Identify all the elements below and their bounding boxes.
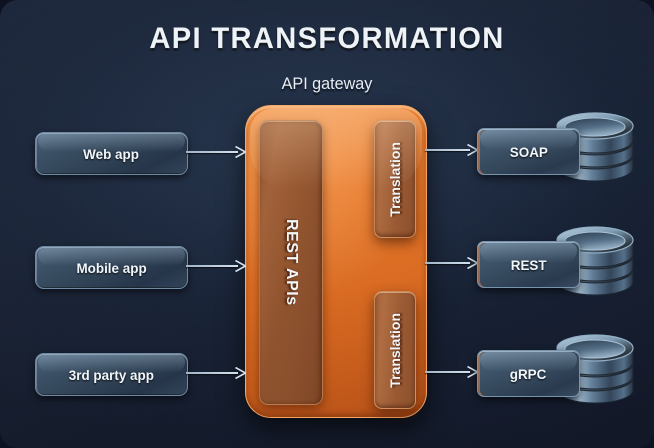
- gateway-translation-tab-top[interactable]: Translation: [374, 120, 416, 238]
- client-node-3rd-party-app[interactable]: 3rd party app: [35, 353, 188, 396]
- arrow-line: [425, 371, 470, 373]
- backend-node-grpc[interactable]: gRPC: [477, 350, 580, 397]
- client-node-web-app[interactable]: Web app: [35, 132, 188, 175]
- arrow-line: [186, 265, 238, 267]
- api-gateway-node[interactable]: REST APIs Translation Translation: [245, 105, 427, 418]
- arrow-right-icon-gateway-to-soap: [425, 144, 478, 156]
- client-node-mobile-app[interactable]: Mobile app: [35, 246, 188, 289]
- gateway-subtitle: API gateway: [202, 74, 453, 94]
- backend-node-rest[interactable]: REST: [477, 241, 580, 288]
- arrow-head: [235, 146, 246, 158]
- arrow-line: [425, 149, 470, 151]
- gateway-ingress-label: REST APIs: [282, 219, 300, 306]
- client-label: Mobile app: [76, 260, 146, 276]
- arrow-right-icon-mobile-app-to-gateway: [186, 260, 246, 272]
- gateway-ingress-bar[interactable]: REST APIs: [259, 120, 323, 405]
- backend-label: REST: [511, 257, 547, 273]
- arrow-head: [235, 367, 246, 379]
- arrow-line: [186, 372, 238, 374]
- arrow-head: [235, 260, 246, 272]
- arrow-right-icon-gateway-to-grpc: [425, 366, 478, 378]
- translation-label: Translation: [387, 313, 403, 388]
- arrow-line: [186, 151, 238, 153]
- diagram-canvas: API TRANSFORMATION API gateway Web app M…: [0, 0, 654, 448]
- backend-node-soap[interactable]: SOAP: [477, 128, 580, 175]
- arrow-right-icon-3rd-party-app-to-gateway: [186, 367, 246, 379]
- arrow-line: [425, 262, 470, 264]
- arrow-right-icon-gateway-to-rest: [425, 257, 478, 269]
- arrow-right-icon-web-app-to-gateway: [186, 146, 246, 158]
- page-title: API TRANSFORMATION: [10, 22, 644, 56]
- translation-label: Translation: [387, 142, 403, 217]
- client-label: Web app: [84, 146, 140, 162]
- backend-label: SOAP: [509, 144, 547, 160]
- gateway-translation-tab-bottom[interactable]: Translation: [374, 291, 416, 409]
- backend-label: gRPC: [510, 366, 547, 382]
- client-label: 3rd party app: [69, 367, 154, 383]
